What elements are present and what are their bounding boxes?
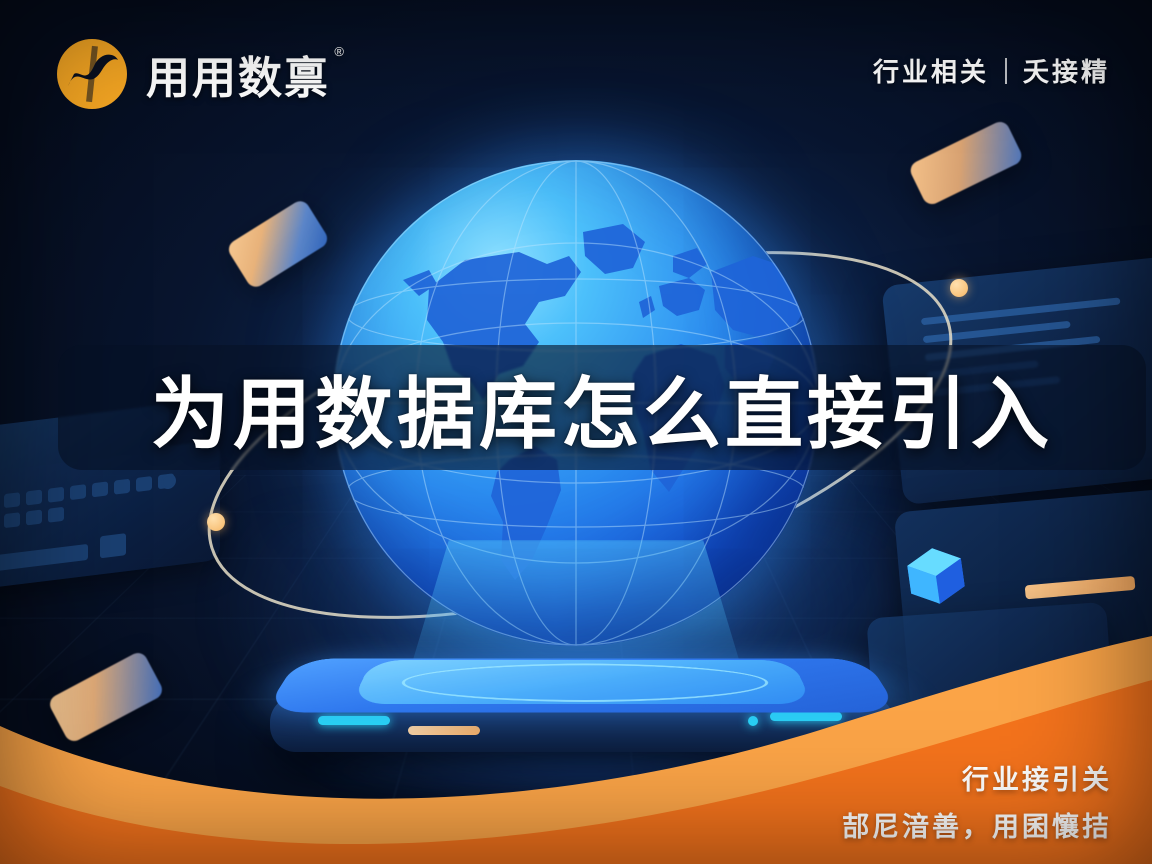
platform-led-icon xyxy=(748,716,758,726)
platform-led-icon xyxy=(408,726,480,735)
poster-header: 用用数禀 ® 行业相关 夭接精 xyxy=(0,0,1152,140)
poster-canvas: 用用数禀 ® 行业相关 夭接精 为用数据库怎么直接引入 行业接引关 郆尼湆善，用… xyxy=(0,0,1152,864)
header-tagline-left: 行业相关 xyxy=(873,52,989,89)
brand-name: 用用数禀 ® xyxy=(146,42,330,106)
brand-name-text: 用用数禀 xyxy=(146,54,330,103)
holographic-platform xyxy=(252,636,912,786)
brand-logo[interactable]: 用用数禀 ® xyxy=(54,36,330,112)
header-tagline: 行业相关 夭接精 xyxy=(873,52,1110,89)
blue-cube xyxy=(901,541,971,611)
keyboard-spacebar xyxy=(0,544,88,574)
swirl-circle-logo-icon xyxy=(54,36,130,112)
orbit-node-icon xyxy=(950,279,968,297)
floating-gradient-chip xyxy=(225,198,331,291)
header-divider xyxy=(1005,58,1007,84)
platform-led-icon xyxy=(318,716,390,725)
header-tagline-right: 夭接精 xyxy=(1023,52,1110,89)
registered-mark: ® xyxy=(334,44,346,59)
footer-line-1: 行业接引关 xyxy=(842,758,1112,797)
platform-led-icon xyxy=(770,712,842,721)
keyboard-keys xyxy=(0,472,182,531)
orbit-node-icon xyxy=(207,513,225,531)
page-title: 为用数据库怎么直接引入 xyxy=(58,345,1146,470)
footer-line-2: 郆尼湆善，用囷懹拮 xyxy=(842,805,1112,844)
title-banner: 为用数据库怎么直接引入 xyxy=(58,345,1146,470)
monitor-accent-bar xyxy=(1025,576,1136,600)
footer-text-block: 行业接引关 郆尼湆善，用囷懹拮 xyxy=(842,758,1112,844)
keyboard-pad xyxy=(100,533,126,558)
